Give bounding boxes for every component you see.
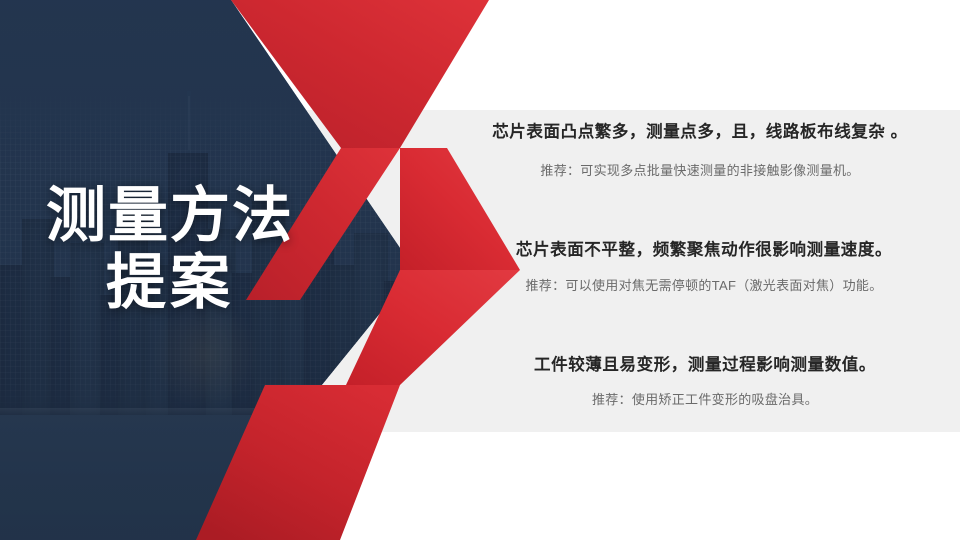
slide-canvas: 测量方法 提案 芯片表面凸点繁多，测量点多，且，线路板布线复杂 。 推荐：可实现… <box>0 0 960 540</box>
issue-recommendation: 推荐：可以使用对焦无需停顿的TAF（激光表面对焦）功能。 <box>448 276 960 297</box>
issue-heading: 芯片表面凸点繁多，测量点多，且，线路板布线复杂 。 <box>440 120 960 145</box>
issue-recommendation: 推荐：使用矫正工件变形的吸盘治具。 <box>450 390 960 411</box>
issue-list: 芯片表面凸点繁多，测量点多，且，线路板布线复杂 。 推荐：可实现多点批量快速测量… <box>440 104 960 415</box>
issue-recommendation: 推荐：可实现多点批量快速测量的非接触影像测量机。 <box>440 161 960 182</box>
slide-title: 测量方法 提案 <box>0 182 340 316</box>
title-line-2: 提案 <box>0 249 340 316</box>
issue-item: 工件较薄且易变形，测量过程影响测量数值。 推荐：使用矫正工件变形的吸盘治具。 <box>440 301 960 411</box>
issue-heading: 芯片表面不平整，频繁聚焦动作很影响测量速度。 <box>448 238 960 263</box>
title-line-1: 测量方法 <box>0 182 340 249</box>
issue-heading: 工件较薄且易变形，测量过程影响测量数值。 <box>450 353 960 378</box>
issue-item: 芯片表面凸点繁多，测量点多，且，线路板布线复杂 。 推荐：可实现多点批量快速测量… <box>440 104 960 182</box>
issue-item: 芯片表面不平整，频繁聚焦动作很影响测量速度。 推荐：可以使用对焦无需停顿的TAF… <box>440 186 960 298</box>
